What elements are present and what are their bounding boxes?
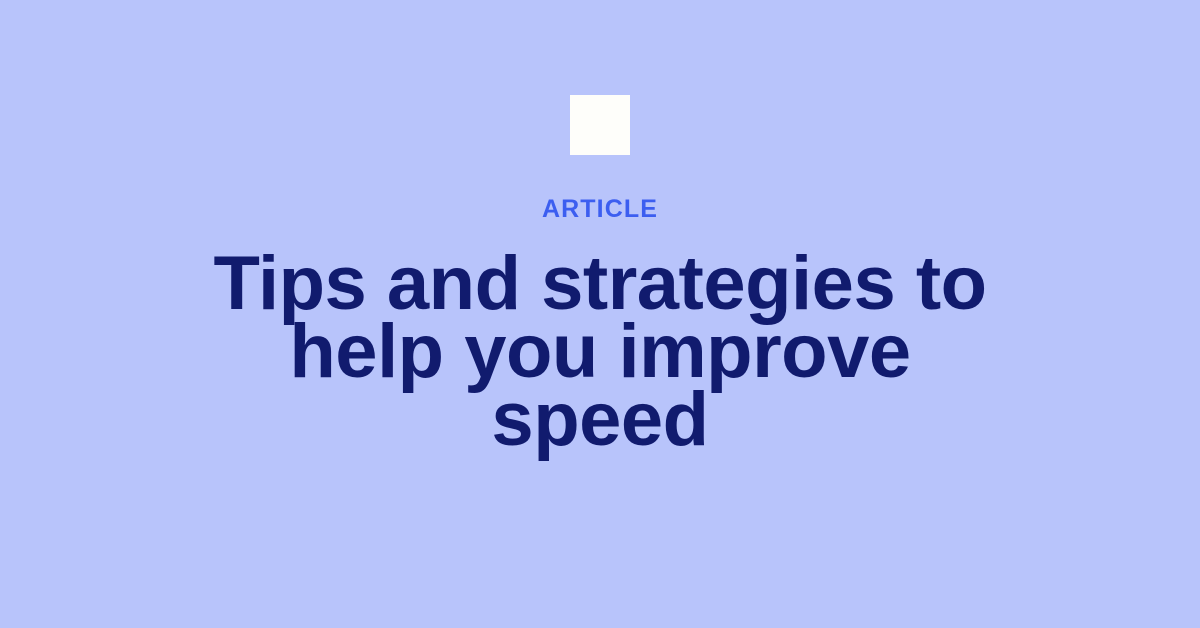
logo-placeholder-icon xyxy=(570,95,630,155)
eyebrow-label: ARTICLE xyxy=(542,197,658,222)
article-share-card: ARTICLE Tips and strategies to help you … xyxy=(0,0,1200,628)
page-title: Tips and strategies to help you improve … xyxy=(200,250,1000,454)
